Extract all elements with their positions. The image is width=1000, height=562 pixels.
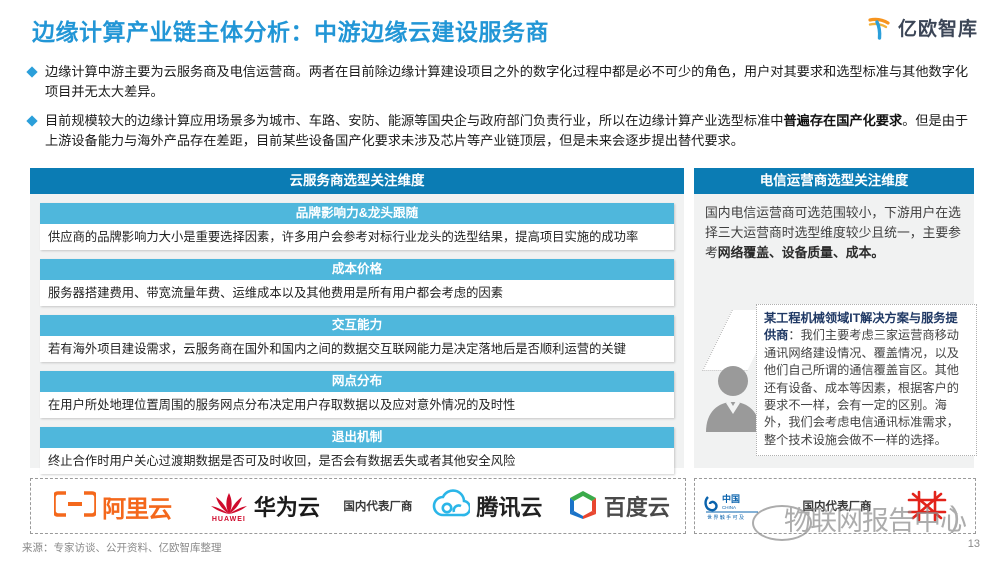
baidu-cloud-icon <box>568 489 598 524</box>
dimension-desc: 终止合作时用户关心过渡期数据是否可及时收回，是否会有数据丢失或者其他安全风险 <box>40 448 674 474</box>
dimension-row: 成本价格 服务器搭建费用、带宽流量年费、运维成本以及其他费用是所有用户都会考虑的… <box>40 259 674 306</box>
dimension-row: 退出机制 终止合作时用户关心过渡期数据是否可及时收回，是否会有数据丢失或者其他安… <box>40 427 674 474</box>
telecom-vendor-logo-strip: 中国 CHINA 世 界 触 手 可 及 国内代表厂商 <box>694 478 976 534</box>
source-note: 来源：专家访谈、公开资料、亿欧智库整理 <box>22 540 222 555</box>
aliyun-bracket-icon <box>54 491 96 522</box>
telecom-operator-panel-header: 电信运营商选型关注维度 <box>694 168 974 194</box>
china-unicom-icon <box>905 488 949 524</box>
dimension-title: 退出机制 <box>40 427 674 448</box>
brand-name: 亿欧智库 <box>898 14 978 41</box>
dimension-desc: 在用户所处地理位置周围的服务网点分布决定用户存取数据以及应对意外情况的及时性 <box>40 392 674 418</box>
svg-text:中国: 中国 <box>722 493 740 504</box>
bullet-item: 边缘计算中游主要为云服务商及电信运营商。两者在目前除边缘计算建设项目之外的数字化… <box>28 62 972 102</box>
huawei-cloud-label: 华为云 <box>254 490 320 522</box>
page-number: 13 <box>968 538 980 550</box>
bullet-list: 边缘计算中游主要为云服务商及电信运营商。两者在目前除边缘计算建设项目之外的数字化… <box>28 62 972 160</box>
dimension-row: 交互能力 若有海外项目建设需求，云服务商在国外和国内之间的数据交互联网能力是决定… <box>40 315 674 362</box>
logo-aliyun: 阿里云 <box>31 489 194 524</box>
aliyun-label: 阿里云 <box>102 489 171 524</box>
dimension-row: 网点分布 在用户所处地理位置周围的服务网点分布决定用户存取数据以及应对意外情况的… <box>40 371 674 418</box>
bullet-text: 边缘计算中游主要为云服务商及电信运营商。两者在目前除边缘计算建设项目之外的数字化… <box>45 62 972 102</box>
huawei-sub-label: HUAWEI <box>212 516 246 523</box>
slide-root: 边缘计算产业链主体分析：中游边缘云建设服务商 亿欧智库 边缘计算中游主要为云服务… <box>0 0 1000 562</box>
dimension-desc: 若有海外项目建设需求，云服务商在国外和国内之间的数据交互联网能力是决定落地后是否… <box>40 336 674 362</box>
expert-quote-block: 某工程机械领域IT解决方案与服务提供商：我们主要考虑三家运营商移动通讯网络建设情… <box>694 300 974 468</box>
page-title: 边缘计算产业链主体分析：中游边缘云建设服务商 <box>32 13 549 47</box>
baidu-cloud-label: 百度云 <box>604 490 670 522</box>
brand-logo: 亿欧智库 <box>868 14 978 41</box>
logo-china-unicom <box>887 488 967 524</box>
dimension-desc: 供应商的品牌影响力大小是重要选择因素，许多用户会参考对标行业龙头的选型结果，提高… <box>40 224 674 250</box>
dimension-title: 成本价格 <box>40 259 674 280</box>
svg-text:世 界 触 手 可 及: 世 界 触 手 可 及 <box>707 514 744 521</box>
logo-china-telecom: 中国 CHINA 世 界 触 手 可 及 <box>695 489 787 523</box>
cloud-provider-panel-header: 云服务商选型关注维度 <box>30 168 684 194</box>
bullet-item: 目前规模较大的边缘计算应用场景多为城市、车路、安防、能源等国央企与政府部门负责行… <box>28 111 972 151</box>
dimension-title: 交互能力 <box>40 315 674 336</box>
logo-tencent-cloud: 腾讯云 <box>420 489 552 524</box>
diamond-bullet-icon <box>26 115 37 126</box>
dimension-title: 品牌影响力&龙头跟随 <box>40 203 674 224</box>
avatar-icon <box>702 362 764 432</box>
quote-bubble: 某工程机械领域IT解决方案与服务提供商：我们主要考虑三家运营商移动通讯网络建设情… <box>756 304 977 456</box>
yiou-mark-icon <box>868 15 894 41</box>
domestic-vendor-label-right: 国内代表厂商 <box>787 498 887 514</box>
logo-baidu-cloud: 百度云 <box>553 489 685 524</box>
cloud-provider-dimension-list: 品牌影响力&龙头跟随 供应商的品牌影响力大小是重要选择因素，许多用户会参考对标行… <box>30 194 684 474</box>
telecom-intro-text: 国内电信运营商可选范围较小，下游用户在选择三大运营商时选型维度较少且统一，主要参… <box>694 194 974 263</box>
cloud-vendor-logo-strip: 阿里云 HUAWEI 华为云 国内代表厂商 <box>30 478 686 534</box>
tencent-cloud-icon <box>430 489 470 524</box>
cloud-provider-panel: 云服务商选型关注维度 品牌影响力&龙头跟随 供应商的品牌影响力大小是重要选择因素… <box>30 168 684 468</box>
dimension-desc: 服务器搭建费用、带宽流量年费、运维成本以及其他费用是所有用户都会考虑的因素 <box>40 280 674 306</box>
bullet-text: 目前规模较大的边缘计算应用场景多为城市、车路、安防、能源等国央企与政府部门负责行… <box>45 111 972 151</box>
china-telecom-icon: 中国 CHINA 世 界 触 手 可 及 <box>702 489 780 523</box>
svg-text:CHINA: CHINA <box>722 505 736 510</box>
dimension-row: 品牌影响力&龙头跟随 供应商的品牌影响力大小是重要选择因素，许多用户会参考对标行… <box>40 203 674 250</box>
logo-huawei-cloud: HUAWEI 华为云 <box>194 490 335 523</box>
dimension-title: 网点分布 <box>40 371 674 392</box>
domestic-vendor-label-left: 国内代表厂商 <box>336 498 421 514</box>
diamond-bullet-icon <box>26 66 37 77</box>
tencent-cloud-label: 腾讯云 <box>476 490 542 522</box>
huawei-flower-icon: HUAWEI <box>210 490 248 523</box>
